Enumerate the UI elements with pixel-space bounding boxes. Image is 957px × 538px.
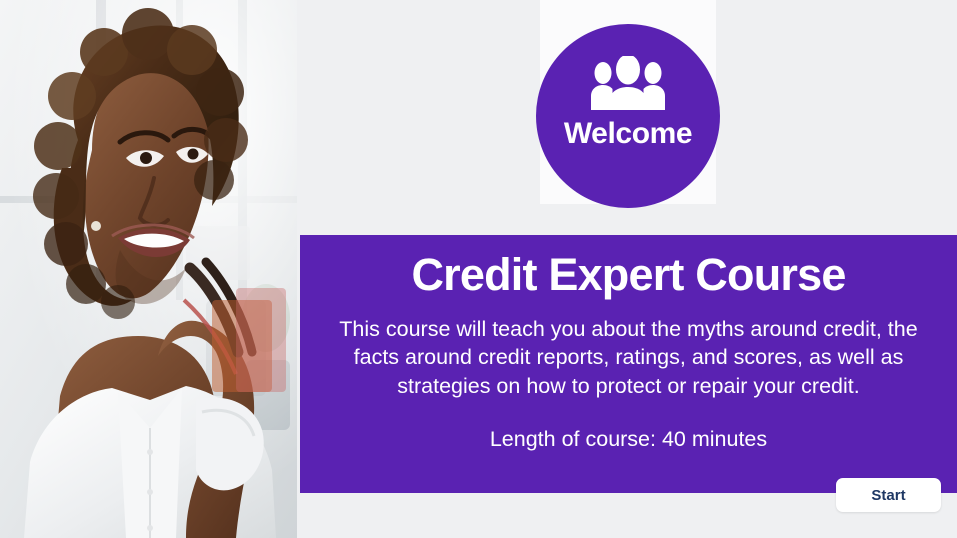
- page-title: Credit Expert Course: [300, 235, 957, 301]
- course-info-panel: Credit Expert Course This course will te…: [300, 235, 957, 493]
- course-description: This course will teach you about the myt…: [300, 301, 957, 400]
- welcome-badge: Welcome: [536, 24, 720, 208]
- start-button[interactable]: Start: [836, 478, 941, 512]
- people-group-icon: [591, 56, 665, 110]
- hero-photo: [0, 0, 297, 538]
- hero-photo-illustration: [0, 0, 297, 538]
- welcome-label: Welcome: [564, 119, 692, 149]
- course-welcome-slide: Welcome Credit Expert Course This course…: [0, 0, 957, 538]
- course-length: Length of course: 40 minutes: [300, 400, 957, 452]
